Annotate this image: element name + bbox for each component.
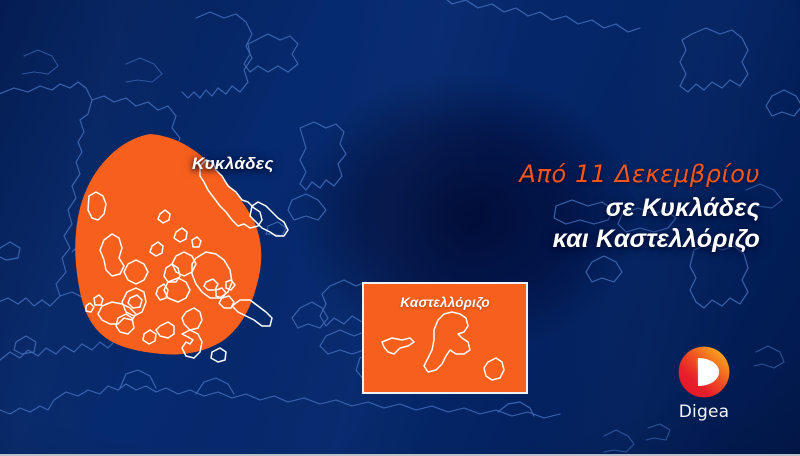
announcement-canvas: Κυκλάδες Από 11 Δεκεμβρίου σε Κυκλάδες κ… <box>0 0 800 456</box>
headline-block: Από 11 Δεκεμβρίου σε Κυκλάδες και Καστελ… <box>330 160 760 254</box>
headline-line-2: σε Κυκλάδες <box>330 193 760 224</box>
headline-line-3: και Καστελλόριζο <box>330 224 760 255</box>
digea-wordmark: Digea <box>668 402 740 422</box>
inset-label-kastellorizo: Καστελλόριζο <box>364 295 526 310</box>
digea-play-circle-icon <box>677 345 731 399</box>
region-label-cyclades: Κυκλάδες <box>192 154 274 174</box>
digea-logo[interactable]: Digea <box>668 345 740 422</box>
headline-date-line: Από 11 Δεκεμβρίου <box>330 160 760 188</box>
kastellorizo-inset-panel: Καστελλόριζο <box>362 282 528 394</box>
